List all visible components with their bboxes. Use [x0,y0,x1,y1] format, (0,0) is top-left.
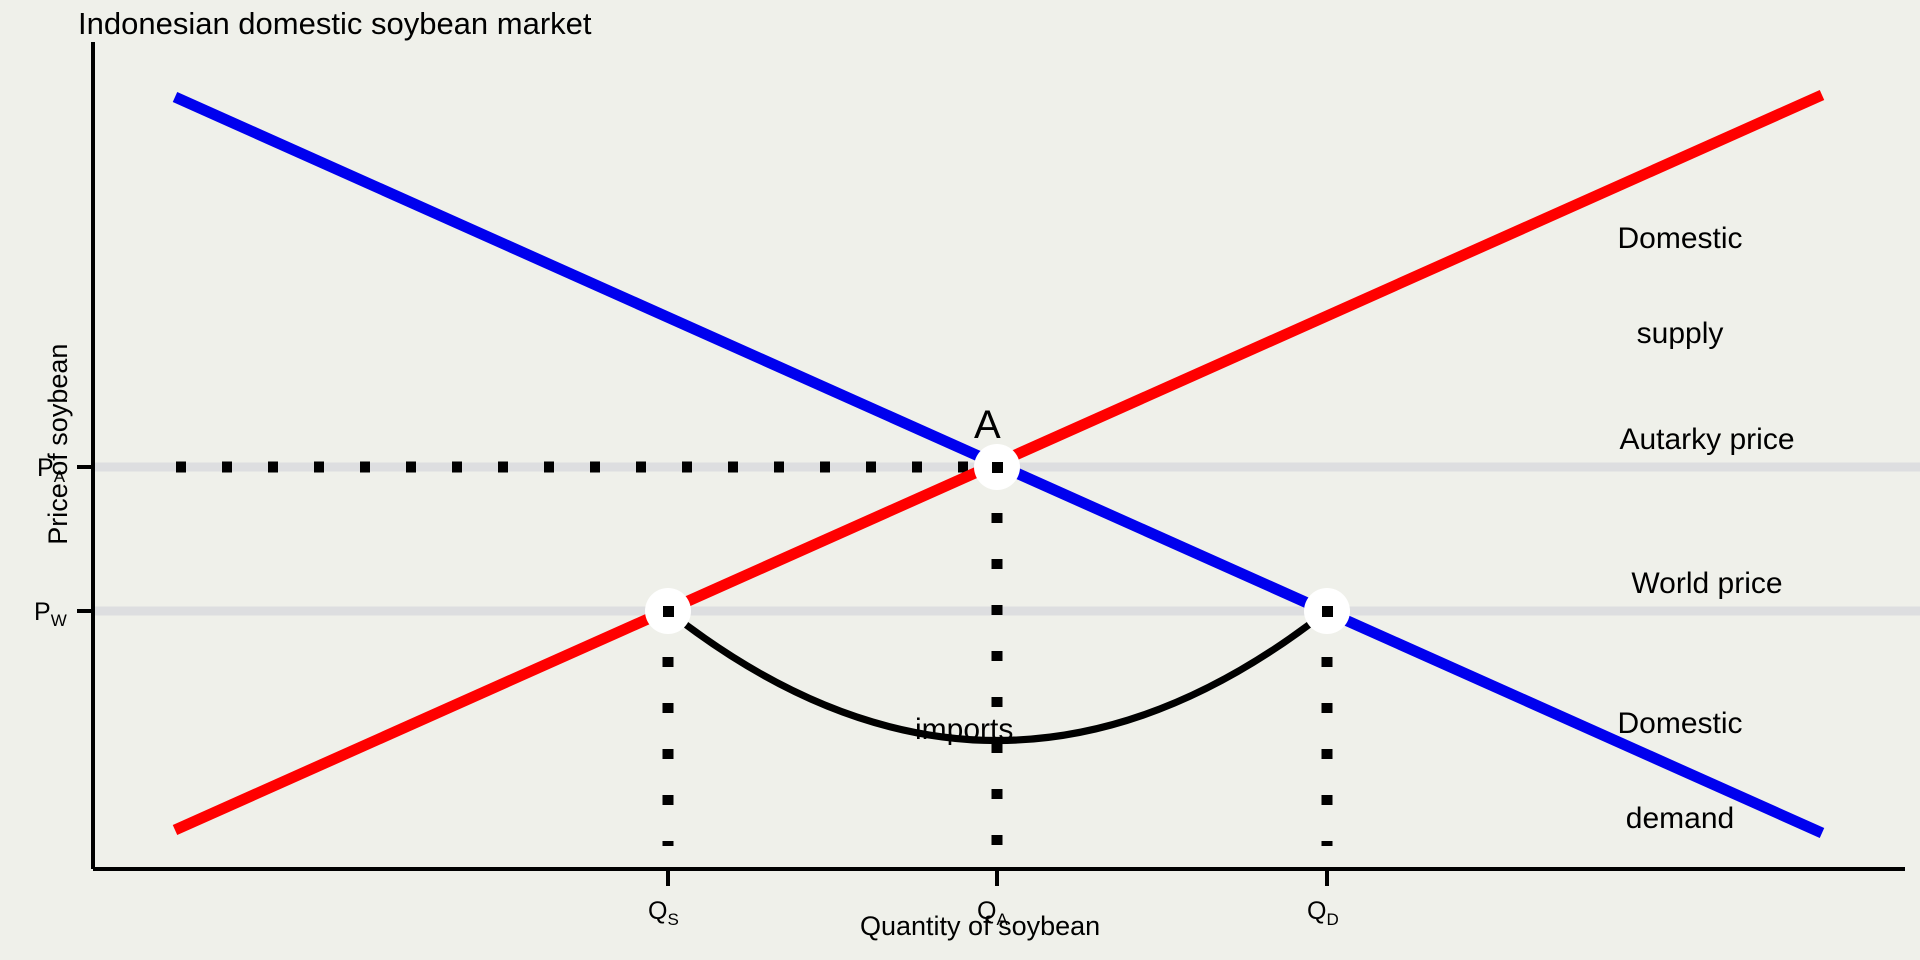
dot-overlay-qd [1322,606,1333,617]
x-tick-label-quantity-autarky: QA [977,898,1008,929]
domestic-demand-label: Domestic demand [1530,645,1830,897]
x-tick-label-quantity-demanded-base: Q [1307,897,1326,925]
chart-canvas: Indonesian domestic soybean market Price… [0,0,1920,960]
y-tick-label-world-price-sub: W [51,611,67,630]
x-tick-label-quantity-demanded-sub: D [1326,910,1338,929]
imports-label: imports [915,714,1013,746]
equilibrium-point-label: A [974,404,1001,446]
x-tick-label-quantity-supplied-base: Q [648,897,667,925]
domestic-supply-label-line2: supply [1530,318,1830,350]
page-title: Indonesian domestic soybean market [78,8,592,41]
y-tick-label-autarky-price: PA [37,455,65,486]
x-tick-label-quantity-autarky-sub: A [996,910,1007,929]
dot-overlay-qs [663,606,674,617]
domestic-supply-label-line1: Domestic [1530,223,1830,255]
dot-overlay-a [992,462,1003,473]
domestic-supply-label: Domestic supply [1530,160,1830,412]
domestic-demand-label-line2: demand [1530,803,1830,835]
y-tick-label-world-price: PW [34,599,67,630]
x-tick-label-quantity-autarky-base: Q [977,897,996,925]
world-price-label: World price [1547,568,1867,600]
x-tick-label-quantity-supplied-sub: S [667,910,678,929]
domestic-demand-label-line1: Domestic [1530,708,1830,740]
x-tick-label-quantity-supplied: QS [648,898,679,929]
y-tick-label-world-price-base: P [34,598,51,626]
autarky-price-label: Autarky price [1547,424,1867,456]
y-tick-label-autarky-price-base: P [37,454,54,482]
y-tick-label-autarky-price-sub: A [54,467,65,486]
x-tick-label-quantity-demanded: QD [1307,898,1339,929]
y-axis-title: Price of soybean [44,324,72,564]
